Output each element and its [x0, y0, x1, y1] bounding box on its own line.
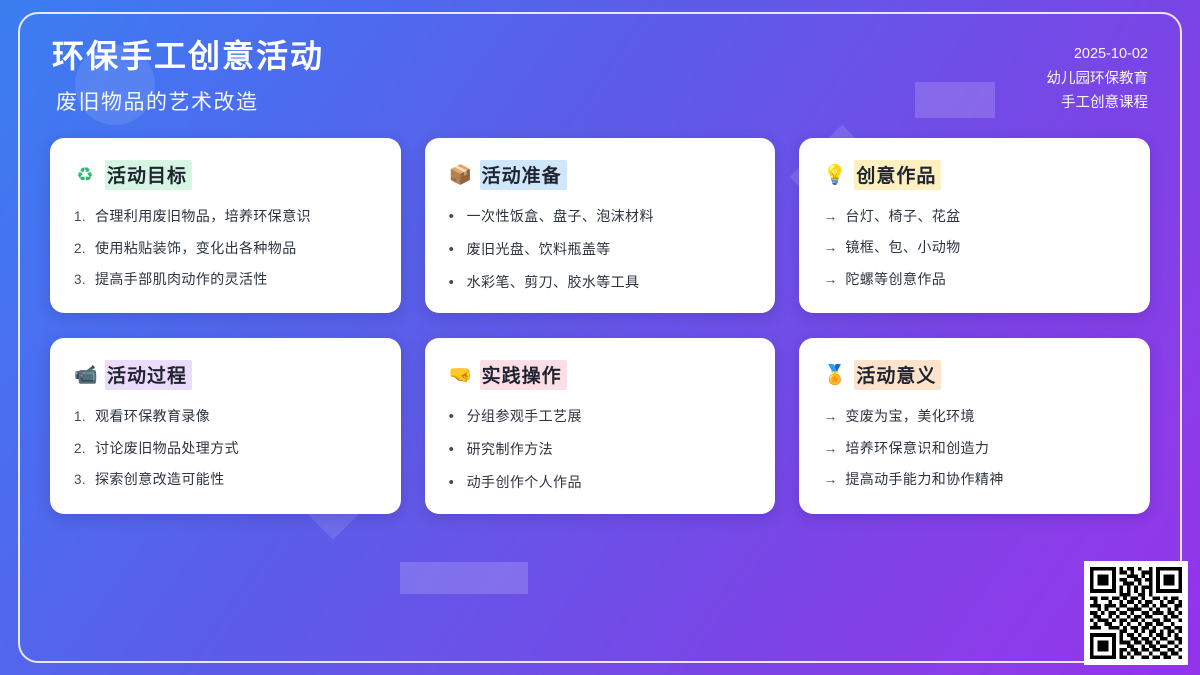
- box-icon: 📦: [449, 166, 471, 185]
- list-item: →培养环保意识和创造力: [823, 438, 1126, 458]
- list-item: →台灯、椅子、花盆: [823, 206, 1126, 226]
- list-marker: →: [823, 206, 838, 226]
- list-item-text: 废旧光盘、饮料瓶盖等: [467, 239, 611, 259]
- card-header: 💡创意作品: [823, 160, 1126, 190]
- list-item: 1.合理利用废旧物品，培养环保意识: [74, 206, 377, 227]
- card-header: 🏅活动意义: [823, 360, 1126, 390]
- list-item-text: 分组参观手工艺展: [467, 406, 582, 426]
- list-marker: •: [449, 272, 460, 294]
- list-marker: →: [823, 469, 838, 489]
- list-item: 1.观看环保教育录像: [74, 406, 377, 427]
- page-title: 环保手工创意活动: [52, 36, 324, 76]
- list-item-text: 提高手部肌肉动作的灵活性: [95, 269, 268, 289]
- list-item: •水彩笔、剪刀、胶水等工具: [449, 272, 752, 294]
- list-item-text: 提高动手能力和协作精神: [845, 469, 1003, 489]
- card-list: →台灯、椅子、花盆→镜框、包、小动物→陀螺等创意作品: [823, 206, 1126, 289]
- card-header: 📹活动过程: [74, 360, 377, 390]
- list-item: •动手创作个人作品: [449, 472, 752, 494]
- card-list: →变废为宝，美化环境→培养环保意识和创造力→提高动手能力和协作精神: [823, 406, 1126, 489]
- list-marker: →: [823, 237, 838, 257]
- list-item: •废旧光盘、饮料瓶盖等: [449, 239, 752, 261]
- list-item-text: 陀螺等创意作品: [845, 269, 946, 289]
- list-item: •分组参观手工艺展: [449, 406, 752, 428]
- list-item-text: 研究制作方法: [467, 439, 553, 459]
- info-card: 📦活动准备•一次性饭盒、盘子、泡沫材料•废旧光盘、饮料瓶盖等•水彩笔、剪刀、胶水…: [425, 138, 776, 313]
- list-item: •研究制作方法: [449, 439, 752, 461]
- list-marker: •: [449, 406, 460, 428]
- card-title: 实践操作: [480, 360, 567, 390]
- list-item: 2.讨论废旧物品处理方式: [74, 438, 377, 459]
- card-title: 活动目标: [105, 160, 192, 190]
- info-card: 🤜实践操作•分组参观手工艺展•研究制作方法•动手创作个人作品: [425, 338, 776, 513]
- info-card: ♻活动目标1.合理利用废旧物品，培养环保意识2.使用粘贴装饰，变化出各种物品3.…: [50, 138, 401, 313]
- list-marker: 1.: [74, 207, 88, 227]
- list-marker: 1.: [74, 407, 88, 427]
- card-title: 活动过程: [105, 360, 192, 390]
- card-header: ♻活动目标: [74, 160, 377, 190]
- card-list: 1.观看环保教育录像2.讨论废旧物品处理方式3.探索创意改造可能性: [74, 406, 377, 490]
- card-list: •一次性饭盒、盘子、泡沫材料•废旧光盘、饮料瓶盖等•水彩笔、剪刀、胶水等工具: [449, 206, 752, 293]
- slide-header: 环保手工创意活动 废旧物品的艺术改造 2025-10-02 幼儿园环保教育 手工…: [0, 0, 1200, 116]
- lightbulb-icon: 💡: [823, 166, 845, 185]
- org-line-2: 手工创意课程: [1047, 91, 1149, 116]
- list-item-text: 观看环保教育录像: [95, 406, 210, 426]
- list-marker: 3.: [74, 270, 88, 290]
- list-marker: •: [449, 472, 460, 494]
- list-marker: →: [823, 406, 838, 426]
- card-header: 📦活动准备: [449, 160, 752, 190]
- list-item: →提高动手能力和协作精神: [823, 469, 1126, 489]
- card-title: 创意作品: [854, 160, 941, 190]
- card-title: 活动意义: [854, 360, 941, 390]
- list-item-text: 变废为宝，美化环境: [845, 406, 975, 426]
- list-item-text: 镜框、包、小动物: [845, 237, 960, 257]
- list-item-text: 使用粘贴装饰，变化出各种物品: [95, 238, 297, 258]
- card-list: 1.合理利用废旧物品，培养环保意识2.使用粘贴装饰，变化出各种物品3.提高手部肌…: [74, 206, 377, 290]
- list-marker: 2.: [74, 239, 88, 259]
- decor-rect-bottom: [400, 562, 528, 594]
- list-item: •一次性饭盒、盘子、泡沫材料: [449, 206, 752, 228]
- medal-icon: 🏅: [823, 366, 845, 385]
- recycle-icon: ♻: [74, 166, 96, 185]
- list-item-text: 台灯、椅子、花盆: [845, 206, 960, 226]
- list-marker: 3.: [74, 470, 88, 490]
- list-item-text: 合理利用废旧物品，培养环保意识: [95, 206, 311, 226]
- list-item: 3.提高手部肌肉动作的灵活性: [74, 269, 377, 290]
- slide-root: 环保手工创意活动 废旧物品的艺术改造 2025-10-02 幼儿园环保教育 手工…: [0, 0, 1200, 675]
- list-item: →镜框、包、小动物: [823, 237, 1126, 257]
- card-header: 🤜实践操作: [449, 360, 752, 390]
- qr-code-image: [1090, 567, 1182, 659]
- list-marker: •: [449, 439, 460, 461]
- list-item-text: 培养环保意识和创造力: [845, 438, 989, 458]
- org-line-1: 幼儿园环保教育: [1047, 67, 1149, 92]
- list-marker: →: [823, 438, 838, 458]
- list-item-text: 一次性饭盒、盘子、泡沫材料: [467, 206, 654, 226]
- slide-date: 2025-10-02: [1047, 42, 1149, 67]
- list-item-text: 水彩笔、剪刀、胶水等工具: [467, 272, 640, 292]
- info-card: 📹活动过程1.观看环保教育录像2.讨论废旧物品处理方式3.探索创意改造可能性: [50, 338, 401, 513]
- card-title: 活动准备: [480, 160, 567, 190]
- info-card: 💡创意作品→台灯、椅子、花盆→镜框、包、小动物→陀螺等创意作品: [799, 138, 1150, 313]
- card-grid: ♻活动目标1.合理利用废旧物品，培养环保意识2.使用粘贴装饰，变化出各种物品3.…: [50, 138, 1150, 514]
- list-item: 2.使用粘贴装饰，变化出各种物品: [74, 238, 377, 259]
- list-marker: •: [449, 239, 460, 261]
- list-marker: •: [449, 206, 460, 228]
- list-marker: →: [823, 269, 838, 289]
- video-camera-icon: 📹: [74, 366, 96, 385]
- list-item: →陀螺等创意作品: [823, 269, 1126, 289]
- list-item-text: 讨论废旧物品处理方式: [95, 438, 239, 458]
- list-item: 3.探索创意改造可能性: [74, 469, 377, 490]
- list-item: →变废为宝，美化环境: [823, 406, 1126, 426]
- qr-code[interactable]: [1084, 561, 1188, 665]
- info-card: 🏅活动意义→变废为宝，美化环境→培养环保意识和创造力→提高动手能力和协作精神: [799, 338, 1150, 513]
- page-subtitle: 废旧物品的艺术改造: [52, 86, 324, 116]
- list-item-text: 探索创意改造可能性: [95, 469, 225, 489]
- list-item-text: 动手创作个人作品: [467, 472, 582, 492]
- card-list: •分组参观手工艺展•研究制作方法•动手创作个人作品: [449, 406, 752, 493]
- header-title-block: 环保手工创意活动 废旧物品的艺术改造: [52, 36, 324, 116]
- header-meta-block: 2025-10-02 幼儿园环保教育 手工创意课程: [1047, 36, 1149, 116]
- hand-craft-icon: 🤜: [449, 366, 471, 385]
- list-marker: 2.: [74, 439, 88, 459]
